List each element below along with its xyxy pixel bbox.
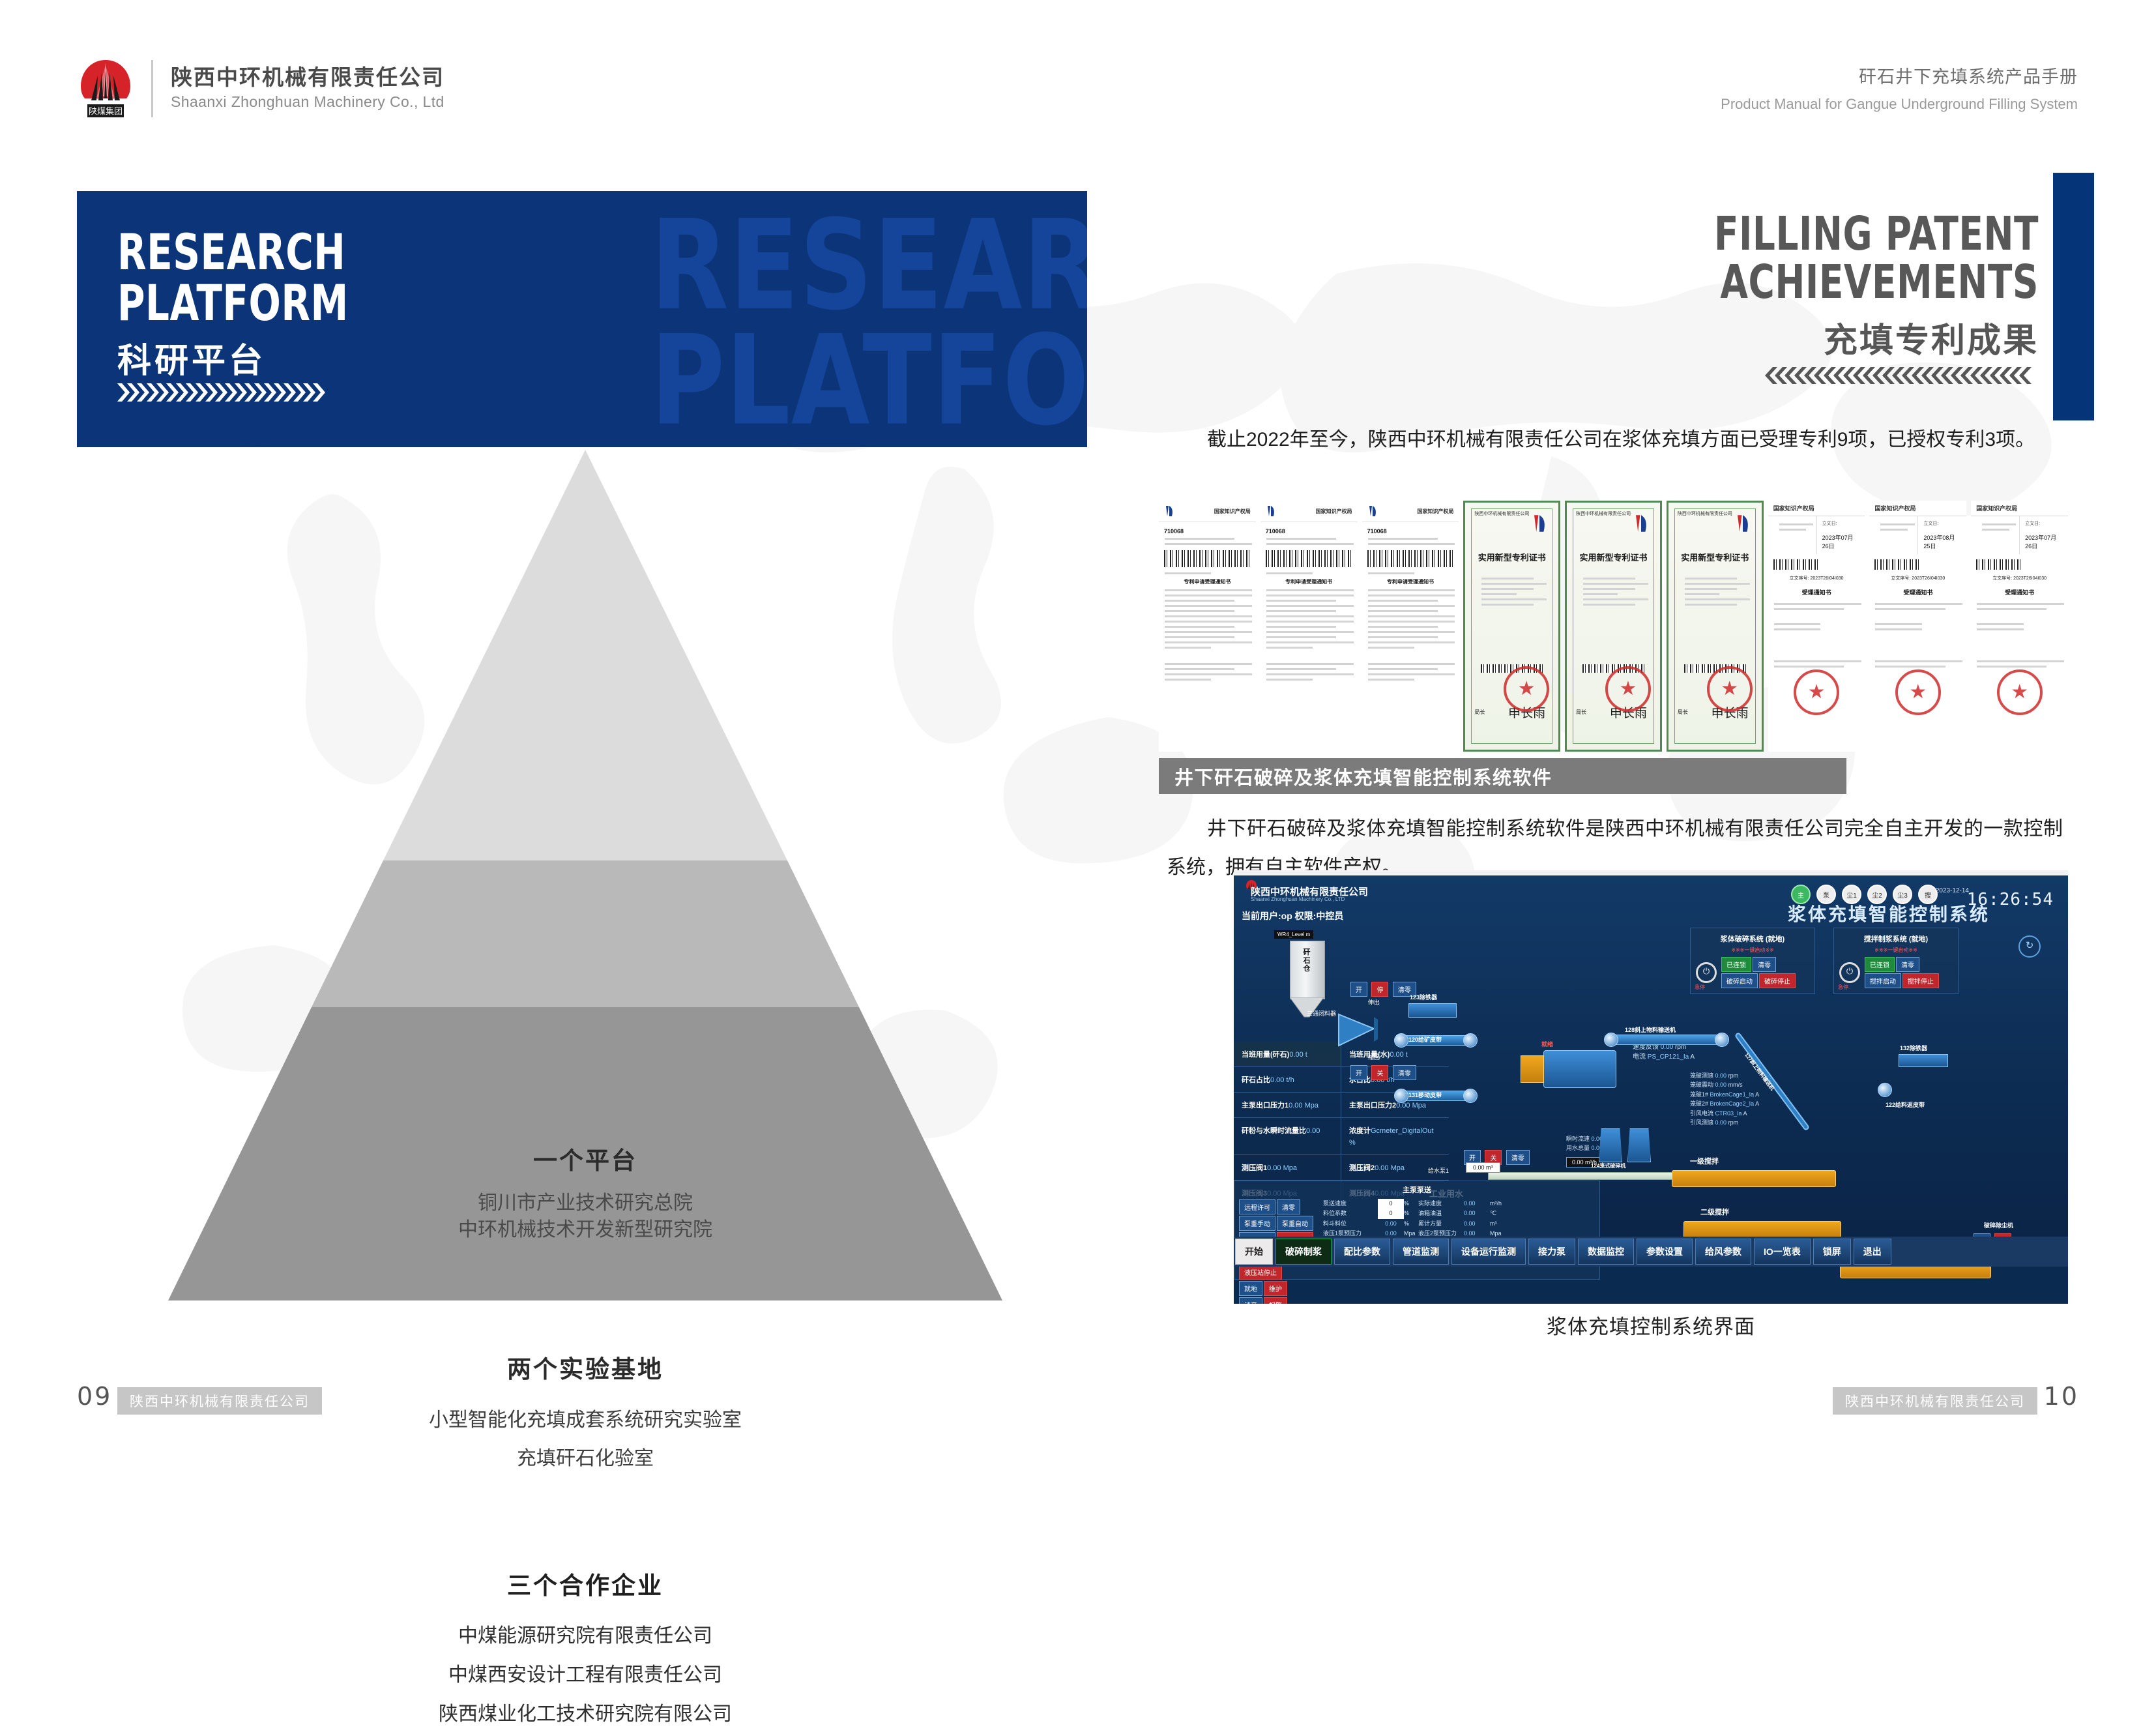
certificate-item[interactable]: 国家知识产权局 710068 专利申请受理通知书 [1362, 501, 1459, 752]
left-page-number: 09 [77, 1382, 112, 1411]
cert-date: 2023年08月25日 [1923, 533, 1961, 550]
btn-manual[interactable]: 泵重手动 [1239, 1216, 1275, 1231]
metric-value: 0.00 Mpa [1375, 1164, 1405, 1172]
cert-code: 710068 [1367, 528, 1454, 535]
metric-value: 0.00 Mpa [1289, 1102, 1318, 1109]
banner-title-en: RESEARCH PLATFORM [117, 227, 349, 329]
tab-relay-pump[interactable]: 接力泵 [1528, 1239, 1575, 1265]
btn-reset[interactable]: 清零 [1506, 1150, 1530, 1165]
tab-ratio-params[interactable]: 配比参数 [1334, 1239, 1390, 1265]
official-seal-icon [1997, 669, 2043, 715]
cert-holder: 陕西中环机械有限责任公司 [1576, 510, 1631, 517]
row-label: 料斗料位 [1323, 1219, 1378, 1229]
btn-mix-stop[interactable]: 搅拌停止 [1902, 973, 1939, 988]
metric-label: 笼破测速 [1690, 1072, 1713, 1079]
certificate-item[interactable]: 国家知识产权局 立文日: 2023年08月25日 立文序号: 2023T26I0… [1869, 501, 1966, 752]
right-page-number: 10 [2044, 1382, 2079, 1411]
metric-value: 0.00 t [1390, 1051, 1408, 1059]
btn-stop[interactable]: 停 [1371, 982, 1388, 997]
mixing-system-panel[interactable]: 搅拌制浆系统 (就地) ※※※一键启动※※ ⏻ 已连锁清零 搅拌启动搅拌停止 急… [1833, 928, 1959, 994]
status-label: 就绪 [1541, 1040, 1553, 1048]
tab-pipe-monitor[interactable]: 管道监测 [1393, 1239, 1449, 1265]
row-input: 0 [1378, 1199, 1404, 1209]
company-logo-icon: 陕煤集团 [78, 57, 133, 120]
row-label: 料位系数 [1323, 1209, 1378, 1218]
cnipa-logo-icon [1164, 505, 1174, 518]
btn-reset[interactable]: 清零 [1277, 1199, 1300, 1214]
hmi-tab-bar[interactable]: 开始 破碎制浆 配比参数 管道监测 设备运行监测 接力泵 数据监控 参数设置 给… [1234, 1237, 2068, 1267]
feeder-control-buttons-2[interactable]: 开 关 清零 [1350, 1065, 1417, 1081]
left-footer-tag: 陕西中环机械有限责任公司 [117, 1387, 322, 1415]
iron-remover-123 [1408, 1003, 1457, 1018]
btn-remote[interactable]: 远程许可 [1239, 1199, 1275, 1214]
hmi-date: 2023-12-14 [1936, 887, 1969, 894]
metric-value: PS_CP121_Ia [1648, 1053, 1689, 1061]
btn-hyd-stop[interactable]: 液压站停止 [1239, 1265, 1282, 1280]
research-platform-pyramid: 一个平台 铜川市产业技术研究总院 中环机械技术开发新型研究院 两个实验基地 小型… [77, 450, 1094, 1304]
pyramid-tier2-title: 两个实验基地 [77, 1349, 1094, 1385]
metric-label: 主泵出口压力2 [1349, 1102, 1396, 1109]
crushing-system-panel[interactable]: 浆体破碎系统 (就地) ※※※一键启动※※ ⏻ 已连锁清零 破碎启动破碎停止 急… [1690, 928, 1815, 994]
pyramid-tier3-title: 三个合作企业 [77, 1566, 1094, 1601]
cert-doc-title: 专利申请受理通知书 [1260, 578, 1358, 585]
btn-crush-stop[interactable]: 破碎停止 [1759, 973, 1796, 988]
equipment-label: 132除铁器 [1900, 1044, 1927, 1052]
metric-label: 笼破震动 [1690, 1081, 1713, 1088]
metric-label: 用水总量 [1566, 1145, 1590, 1151]
retract-label: 缩回 [1368, 1053, 1380, 1061]
row-unit: % [1404, 1209, 1418, 1218]
chevron-right-decoration [117, 381, 339, 404]
official-seal-icon [1605, 666, 1651, 712]
equipment-label: 128斜上物料输送机 [1625, 1025, 1676, 1034]
header-company-cn: 陕西中环机械有限责任公司 [171, 60, 444, 91]
nav-main-button[interactable]: 主 [1791, 885, 1811, 904]
right-title-en: FILLING PATENT ACHIEVEMENTS [1714, 210, 2039, 307]
hmi-clock: 16:26:54 [1967, 890, 2054, 909]
metric-value: 0.00 [1715, 1081, 1727, 1088]
feedwater-pump-label: 给水泵1 [1428, 1166, 1449, 1175]
software-section-heading: 井下矸石破碎及浆体充填智能控制系统软件 [1159, 758, 1846, 794]
metric-label: 笼破2# [1690, 1100, 1708, 1107]
equipment-label: 120给矿皮带 [1408, 1035, 1442, 1044]
btn-maintain[interactable]: 维护 [1264, 1281, 1287, 1296]
stirrer-2-label: 二级搅拌 [1700, 1207, 1729, 1217]
cert-doc-title: 专利申请受理通知书 [1362, 578, 1459, 585]
certificate-item[interactable]: 陕西中环机械有限责任公司 实用新型专利证书 局长 申长雨 [1463, 501, 1560, 752]
right-edge-blue-bar [2053, 173, 2094, 420]
row-label2: 油箱油温 [1418, 1209, 1464, 1218]
feeder-label: 三通闭料器 [1307, 1009, 1336, 1018]
nav-dust2-button[interactable]: 尘2 [1867, 885, 1887, 904]
cert-doc-title: 实用新型专利证书 [1465, 551, 1558, 563]
row-unit2: m³ [1490, 1219, 1497, 1229]
btn-reset[interactable]: 清零 [1753, 957, 1776, 972]
certificate-item[interactable]: 国家知识产权局 710068 专利申请受理通知书 [1159, 501, 1256, 752]
equipment-label: 131移动皮带 [1408, 1091, 1442, 1099]
nav-search-button[interactable]: 搜 [1918, 885, 1938, 904]
metric-label: 测压阀2 [1349, 1164, 1375, 1172]
emergency-stop-icon[interactable]: ⏻ [1839, 962, 1860, 983]
row-value2: 0.00 [1464, 1209, 1490, 1218]
cert-issuer: 国家知识产权局 [1971, 501, 2068, 516]
tab-exit[interactable]: 退出 [1854, 1239, 1891, 1265]
cert-doc-title: 专利申请受理通知书 [1159, 578, 1256, 585]
tab-equipment-monitor[interactable]: 设备运行监测 [1451, 1239, 1526, 1265]
metric-label: 矸石占比 [1242, 1076, 1270, 1084]
tab-air-params[interactable]: 给风参数 [1695, 1239, 1751, 1265]
btn-mix-start[interactable]: 搅拌启动 [1865, 973, 1901, 988]
certificate-item[interactable]: 陕西中环机械有限责任公司 实用新型专利证书 局长 申长雨 [1667, 501, 1764, 752]
extend-label: 伸出 [1368, 998, 1380, 1007]
research-platform-banner: RESEARCH PLATFORM RESEARCH PLATFORM 科研平台 [77, 191, 1087, 447]
banner-title-cn: 科研平台 [117, 333, 266, 382]
metric-label: 引风测速 [1690, 1119, 1713, 1126]
metric-label: 笼破1# [1690, 1091, 1708, 1098]
btn-close[interactable]: 关 [1371, 1065, 1388, 1080]
row-unit2: m³/h [1490, 1199, 1502, 1209]
row-label2: 实际速度 [1418, 1199, 1464, 1209]
cert-issuer: 国家知识产权局 [1768, 501, 1865, 516]
row-label2: 累计方量 [1418, 1219, 1464, 1229]
cert-date: 2023年07月26日 [2025, 533, 2063, 550]
pyramid-tier1-items: 铜川市产业技术研究总院 中环机械技术开发新型研究院 [77, 1190, 1094, 1244]
official-seal-icon [1504, 666, 1549, 712]
pyramid-tier3-item-0: 中煤能源研究院有限责任公司 [77, 1617, 1094, 1656]
panel-sub: ※※※一键启动※※ [1691, 947, 1814, 954]
cert-doc-title: 实用新型专利证书 [1668, 551, 1762, 563]
feeder-control-buttons[interactable]: 开 停 清零 [1350, 981, 1417, 997]
metric-value: 0.00 [1715, 1119, 1727, 1126]
pyramid-tier1-item-1: 中环机械技术开发新型研究院 [77, 1216, 1094, 1243]
tab-start[interactable]: 开始 [1235, 1239, 1273, 1265]
cert-doc-title: 受理通知书 [1768, 588, 1865, 596]
cnipa-logo-icon [1266, 505, 1276, 518]
nav-dust3-button[interactable]: 尘3 [1893, 885, 1912, 904]
metric-unit: A [1690, 1053, 1695, 1061]
metric-label: 主泵出口压力1 [1242, 1102, 1289, 1109]
equipment-label: 122给料返皮带 [1886, 1100, 1925, 1109]
incline-conveyor-127 [1733, 1029, 1818, 1140]
iron-remover-132 [1899, 1054, 1948, 1067]
tab-lock-screen[interactable]: 锁屏 [1813, 1239, 1851, 1265]
hmi-company-en: Shaanxi Zhonghuan Machinery Co., LTD [1251, 896, 1345, 902]
row-unit: % [1404, 1199, 1418, 1209]
row-label: 泵送速度 [1323, 1199, 1378, 1209]
metric-value: 0.00 t/h [1270, 1076, 1294, 1084]
row-value: 0.00 [1378, 1219, 1404, 1229]
stirrer-1-label: 一级搅拌 [1690, 1156, 1719, 1166]
nav-pump-button[interactable]: 泵 [1816, 885, 1836, 904]
cert-date: 2023年07月26日 [1822, 533, 1860, 550]
crusher-machine [1543, 1050, 1616, 1088]
cert-holder: 陕西中环机械有限责任公司 [1474, 510, 1529, 517]
chevron-left-decoration [1765, 365, 2039, 386]
certificate-item[interactable]: 陕西中环机械有限责任公司 实用新型专利证书 局长 申长雨 [1565, 501, 1662, 752]
pump-panel-title: 主泵泵送 [1234, 1184, 1599, 1195]
certificate-item[interactable]: 国家知识产权局 立文日: 2023年07月26日 立文序号: 2023T26I0… [1971, 501, 2068, 752]
btn-interlocked[interactable]: 已连锁 [1865, 957, 1895, 972]
certificate-item[interactable]: 国家知识产权局 立文日: 2023年07月26日 立文序号: 2023T26I0… [1768, 501, 1865, 752]
hmi-canvas: 陕西中环机械有限责任公司 Shaanxi Zhonghuan Machinery… [1234, 875, 2068, 1267]
emergency-stop-icon[interactable]: ⏻ [1696, 962, 1717, 983]
cert-issuer: 国家知识产权局 [1417, 508, 1453, 515]
estop-label: 急停 [1695, 984, 1705, 991]
header-manual-en: Product Manual for Gangue Underground Fi… [1721, 96, 2078, 113]
hmi-user-line: 当前用户:op 权限:中控员 [1242, 909, 1343, 922]
hmi-caption: 浆体充填控制系统界面 [1234, 1310, 2068, 1340]
belt-128 [1609, 1035, 1721, 1045]
tab-data-monitor[interactable]: 数据监控 [1578, 1239, 1634, 1265]
row-value2: 0.00 [1464, 1199, 1490, 1209]
btn-reset[interactable]: 清零 [1393, 1065, 1416, 1080]
refresh-icon[interactable]: ↻ [2018, 935, 2041, 958]
estop-label: 急停 [1838, 984, 1848, 991]
right-title-cn: 充填专利成果 [1824, 313, 2039, 362]
btn-open[interactable]: 开 [1350, 1065, 1367, 1080]
row-unit: % [1404, 1219, 1418, 1229]
page-header: 陕煤集团 陕西中环机械有限责任公司 Shaanxi Zhonghuan Mach… [0, 0, 2156, 140]
metric-label: 电流 [1633, 1053, 1646, 1061]
pyramid-tier2-item-1: 充填矸石化验室 [77, 1440, 1094, 1478]
cert-doc-title: 实用新型专利证书 [1567, 551, 1660, 563]
hmi-system-title: 浆体充填智能控制系统 [1788, 900, 1990, 926]
nav-dust1-button[interactable]: 尘1 [1842, 885, 1861, 904]
right-footer-tag: 陕西中环机械有限责任公司 [1833, 1387, 2037, 1415]
cert-sign-label: 局长 [1474, 709, 1485, 716]
pyramid-tier1-title: 一个平台 [77, 1141, 1094, 1176]
panel-title: 搅拌制浆系统 (就地) [1834, 933, 1958, 944]
cert-code: 710068 [1164, 528, 1251, 535]
btn-interlocked[interactable]: 已连锁 [1721, 957, 1751, 972]
crusher-motor [1521, 1055, 1544, 1083]
tab-io-list[interactable]: IO一览表 [1754, 1239, 1811, 1265]
pyramid-tier3-item-2: 陕西煤业化工技术研究院有限公司 [77, 1695, 1094, 1734]
metric-value: 0.00 Mpa [1267, 1164, 1297, 1172]
cert-code: 710068 [1266, 528, 1352, 535]
cert-sign-label: 局长 [1678, 709, 1688, 716]
btn-crush-start[interactable]: 破碎启动 [1721, 973, 1758, 988]
equipment-label: 123除铁器 [1410, 993, 1437, 1001]
pyramid-tier3-item-1: 中煤西安设计工程有限责任公司 [77, 1656, 1094, 1695]
metric-value: 0.00 [1306, 1127, 1320, 1135]
metric-value: 0.00 t [1289, 1051, 1307, 1059]
cert-issuer: 国家知识产权局 [1869, 501, 1966, 516]
cnipa-logo-icon [1633, 513, 1650, 534]
cert-sign-label: 局长 [1576, 709, 1586, 716]
btn-local[interactable]: 就地 [1239, 1281, 1262, 1296]
silo-level-readout: WR4_Level m [1274, 930, 1313, 939]
header-divider [151, 60, 153, 117]
btn-mute[interactable]: 消音 [1239, 1297, 1262, 1304]
official-seal-icon [1707, 666, 1753, 712]
cnipa-logo-icon [1367, 505, 1378, 518]
stirrer-1 [1672, 1170, 1836, 1187]
silo-label: 矸石仓 [1302, 948, 1312, 973]
tab-crush-slurry[interactable]: 破碎制浆 [1275, 1239, 1332, 1265]
cnipa-logo-icon [1531, 513, 1548, 534]
cert-issuer: 国家知识产权局 [1316, 508, 1352, 515]
svg-text:陕煤集团: 陕煤集团 [89, 106, 123, 117]
metric-label: 测压阀1 [1242, 1164, 1267, 1172]
certificate-gallery: 国家知识产权局 710068 专利申请受理通知书 国家知识产权局 710068 … [1159, 501, 2068, 752]
cert-doc-title: 受理通知书 [1869, 588, 1966, 596]
certificate-item[interactable]: 国家知识产权局 710068 专利申请受理通知书 [1260, 501, 1358, 752]
cnipa-logo-icon [1734, 513, 1751, 534]
metric-value: 0.00 [1715, 1072, 1727, 1079]
btn-reset[interactable]: 清零 [1896, 957, 1919, 972]
row-value2: 0.00 [1464, 1219, 1490, 1229]
official-seal-icon [1895, 669, 1941, 715]
cert-issuer: 国家知识产权局 [1214, 508, 1251, 515]
pyramid-tier3-items: 中煤能源研究院有限责任公司 中煤西安设计工程有限责任公司 陕西煤业化工技术研究院… [77, 1617, 1094, 1734]
row-unit2: ℃ [1490, 1209, 1496, 1218]
cert-holder: 陕西中环机械有限责任公司 [1678, 510, 1732, 517]
cage-crusher-b [1627, 1128, 1651, 1162]
metric-label: 当班用量(矸石) [1242, 1051, 1289, 1059]
cert-doc-title: 受理通知书 [1971, 588, 2068, 596]
header-company-en: Shaanxi Zhonghuan Machinery Co., Ltd [171, 93, 444, 111]
pyramid-tier1-item-0: 铜川市产业技术研究总院 [77, 1190, 1094, 1216]
hmi-quick-nav[interactable]: 主 泵 尘1 尘2 尘3 搜 [1791, 885, 1938, 904]
row-input: 0 [1378, 1209, 1404, 1218]
tab-param-settings[interactable]: 参数设置 [1637, 1239, 1693, 1265]
water-volume-readout: 0.00 m³ [1466, 1162, 1500, 1173]
header-manual-cn: 矸石井下充填系统产品手册 [1859, 63, 2078, 88]
panel-title: 浆体破碎系统 (就地) [1691, 933, 1814, 944]
equipment-label: 124笼式破碎机 [1591, 1162, 1625, 1169]
banner-watermark-text: RESEARCH PLATFORM [650, 208, 1087, 439]
metric-label: 引风电流 [1690, 1110, 1713, 1117]
metric-label: 瞬时流速 [1566, 1136, 1590, 1142]
metric-label: 矸粉与水瞬时流量比 [1242, 1127, 1306, 1135]
metric-label: 浓度计 [1349, 1127, 1371, 1135]
btn-alarm[interactable]: 报警 [1264, 1297, 1287, 1304]
btn-auto[interactable]: 泵重自动 [1277, 1216, 1313, 1231]
hmi-belt-metrics: 速度反馈 0.00 rpm 电流 PS_CP121_Ia A [1633, 1042, 1695, 1062]
stirrer-2 [1683, 1221, 1841, 1238]
official-seal-icon [1794, 669, 1839, 715]
cage-crusher-a [1599, 1128, 1622, 1162]
panel-sub: ※※※一键启动※※ [1834, 947, 1958, 954]
equipment-label: 破碎除尘机 [1984, 1221, 2013, 1229]
patent-intro-paragraph: 截止2022年至今，陕西中环机械有限责任公司在浆体充填方面已受理专利9项，已授权… [1167, 421, 2060, 460]
btn-open[interactable]: 开 [1350, 982, 1367, 997]
hmi-screenshot[interactable]: 陕西中环机械有限责任公司 Shaanxi Zhonghuan Machinery… [1234, 870, 2068, 1304]
